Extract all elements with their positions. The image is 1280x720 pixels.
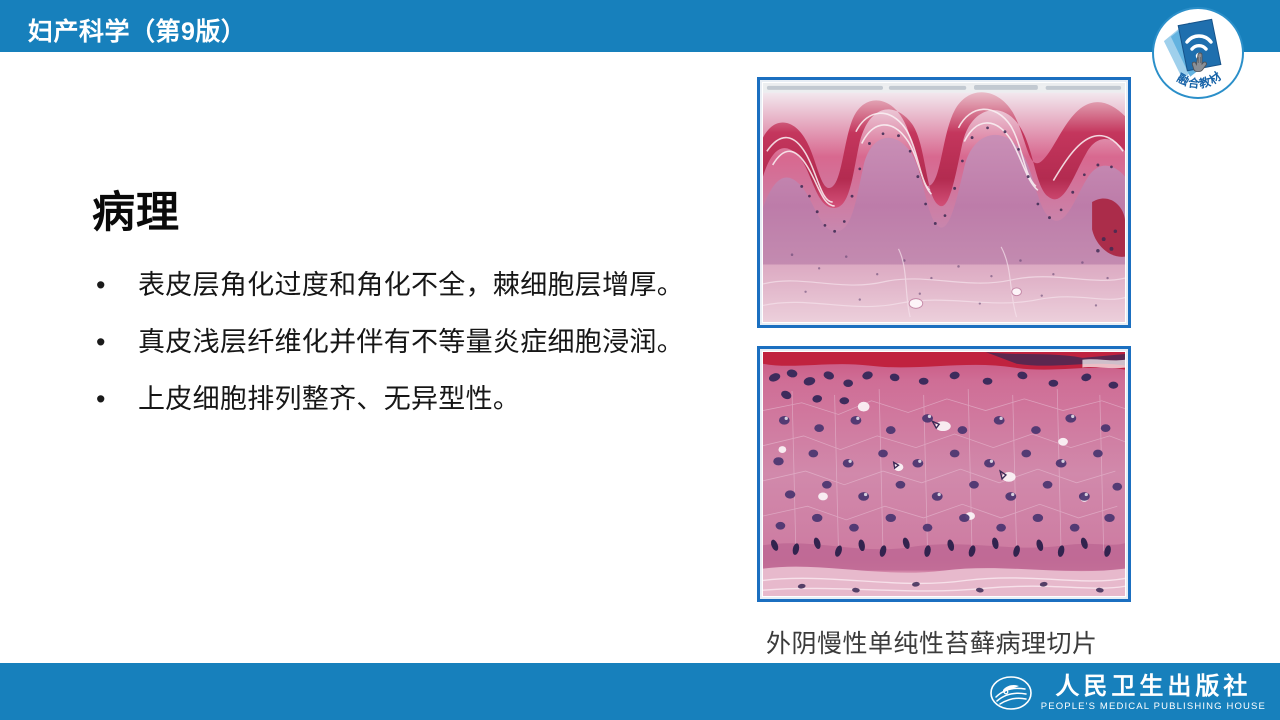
histology-image-bottom — [763, 352, 1125, 596]
list-item: • 表皮层角化过度和角化不全，棘细胞层增厚。 — [92, 268, 692, 306]
histology-high-magnification — [757, 346, 1131, 602]
list-item-label: 上皮细胞排列整齐、无异型性。 — [138, 382, 520, 416]
publisher-name-en: PEOPLE'S MEDICAL PUBLISHING HOUSE — [1041, 702, 1266, 712]
list-item-label: 表皮层角化过度和角化不全，棘细胞层增厚。 — [138, 268, 684, 302]
histology-low-magnification — [757, 77, 1131, 328]
svg-text:融合教材: 融合教材 — [1175, 68, 1225, 91]
figure-caption: 外阴慢性单纯性苔藓病理切片 — [766, 624, 1098, 660]
list-item: • 真皮浅层纤维化并伴有不等量炎症细胞浸润。 — [92, 325, 692, 363]
badge-arc-text: 融合教材 — [1175, 68, 1225, 91]
publisher-name-cn: 人民卫生出版社 — [1055, 674, 1251, 698]
list-item-label: 真皮浅层纤维化并伴有不等量炎症细胞浸润。 — [138, 325, 684, 359]
bullet-marker-icon: • — [92, 268, 138, 302]
wifi-book-hand-icon: 融合教材 — [1154, 9, 1242, 97]
header-title: 妇产科学（第9版） — [28, 12, 246, 48]
fusion-textbook-badge: 融合教材 — [1152, 7, 1244, 99]
bullet-marker-icon: • — [92, 325, 138, 359]
bullet-marker-icon: • — [92, 382, 138, 416]
publisher-wave-emblem — [989, 673, 1033, 713]
list-item: • 上皮细胞排列整齐、无异型性。 — [92, 382, 692, 420]
bullet-list: • 表皮层角化过度和角化不全，棘细胞层增厚。 • 真皮浅层纤维化并伴有不等量炎症… — [92, 268, 692, 439]
histology-image-top — [763, 83, 1125, 322]
page-title: 病理 — [92, 190, 180, 236]
publisher-logo: 人民卫生出版社 PEOPLE'S MEDICAL PUBLISHING HOUS… — [989, 673, 1266, 713]
